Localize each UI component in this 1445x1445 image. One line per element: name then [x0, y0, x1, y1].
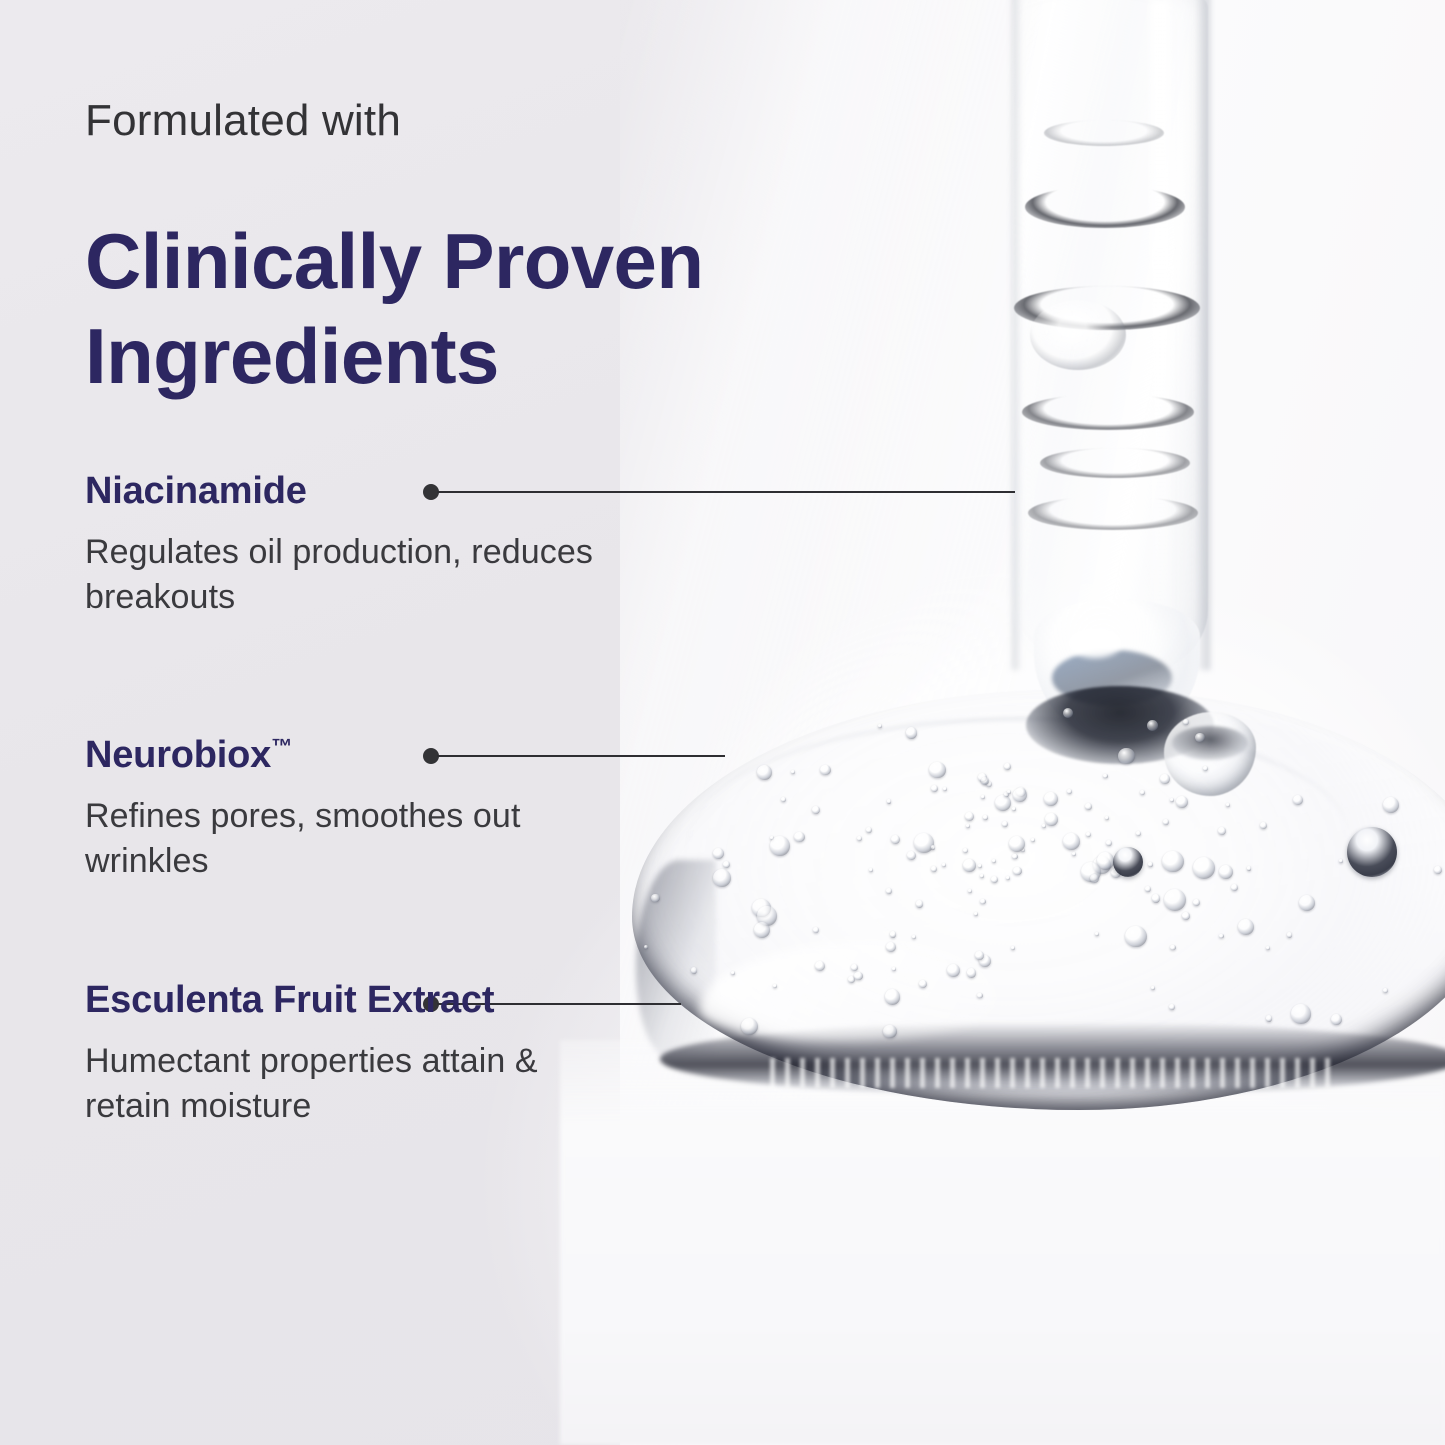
ingredient-name-text: Esculenta Fruit Extract — [85, 979, 494, 1021]
ingredient-block-esculenta: Esculenta Fruit Extract Humectant proper… — [85, 977, 605, 1129]
trademark-symbol: ™ — [271, 734, 292, 758]
ingredient-block-niacinamide: Niacinamide Regulates oil production, re… — [85, 468, 605, 620]
eyebrow-text: Formulated with — [85, 96, 401, 146]
ingredient-description: Humectant properties attain & retain moi… — [85, 1039, 605, 1129]
ingredient-name-text: Niacinamide — [85, 470, 307, 512]
ingredient-description: Regulates oil production, reduces breako… — [85, 530, 605, 620]
ingredient-name-text: Neurobiox — [85, 734, 271, 776]
text-content: Formulated with Clinically Proven Ingred… — [0, 0, 1445, 1445]
ingredient-name: Esculenta Fruit Extract — [85, 977, 605, 1023]
ingredient-description: Refines pores, smoothes out wrinkles — [85, 794, 605, 884]
ingredient-block-neurobiox: Neurobiox™ Refines pores, smoothes out w… — [85, 732, 605, 884]
ingredient-name: Neurobiox™ — [85, 732, 605, 778]
infographic-canvas: Formulated with Clinically Proven Ingred… — [0, 0, 1445, 1445]
ingredient-name: Niacinamide — [85, 468, 605, 514]
page-title: Clinically Proven Ingredients — [85, 214, 865, 404]
